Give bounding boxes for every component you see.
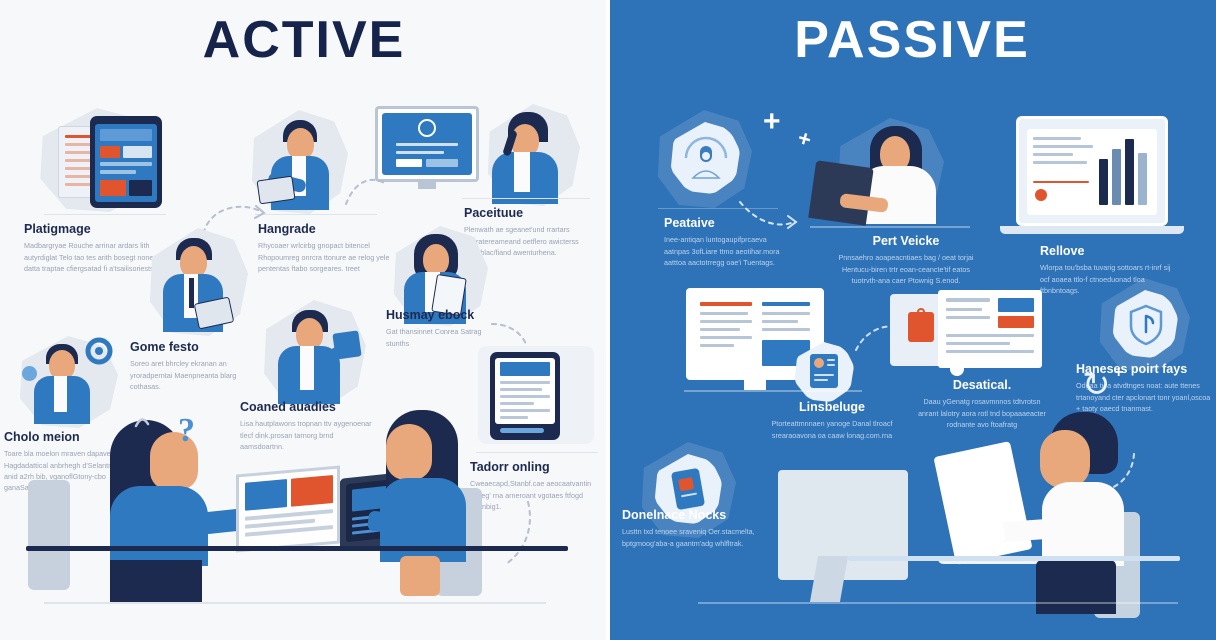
floor-line (698, 602, 1178, 604)
passive-panel-title: PASSIVE (608, 14, 1216, 66)
tablet-device (490, 352, 560, 440)
dot-decoration (22, 366, 37, 381)
caption-heading: Linsbeluge (768, 400, 896, 414)
desk-surface (848, 556, 1180, 561)
necktie (189, 278, 194, 308)
monitor-device (375, 106, 479, 182)
plus-glyph-small: + (1114, 364, 1123, 382)
caption-body: Rhycoaer wrlcirbg gnopact bitencel Rhopo… (258, 240, 404, 273)
caption-heading: Platigmage (24, 222, 164, 236)
head (1040, 430, 1090, 488)
caption-body: Soreo aret bhrcley ekranan an yroradpern… (130, 358, 260, 391)
caption-heading: Hangrade (258, 222, 404, 236)
caption-rule (44, 214, 166, 215)
dotted-arrow-icon (498, 500, 538, 568)
caption-body: Lisa hautplawons tropnan ttv aygenoenar … (240, 418, 372, 451)
presentation-card (332, 330, 361, 359)
desktop-monitor (236, 465, 340, 552)
dotted-arrow-icon (738, 198, 798, 232)
laptop-screen (808, 160, 874, 226)
caption-heading: Rellove (1040, 244, 1176, 258)
caption-deastical: Desatical. Daau yGenatg rosavmnnos tdtvr… (916, 378, 1048, 430)
active-panel-title: ACTIVE (0, 14, 608, 66)
caption-body: Lusttn txd tenoee sraveniq Oer.stacmelta… (622, 526, 758, 548)
caption-heading: Pert Veicke (836, 234, 976, 248)
active-panel: ACTIVE (0, 0, 608, 640)
infographic-poster: ACTIVE (0, 0, 1216, 640)
laptop-base (1000, 226, 1184, 234)
caption-tailor-online: Tadorr onling Cweaecapd,Stanbf.cae aeoca… (470, 460, 606, 512)
spark-icon (132, 412, 154, 434)
caption-body: Plenwath ae sgeanet'und rrartars aporate… (464, 224, 596, 257)
held-paper (956, 491, 1005, 547)
caption-body: Cweaecapd,Stanbf.cae aeocaatvantin 'fune… (470, 478, 606, 511)
question-mark-icon: ? (178, 412, 195, 450)
legs (110, 560, 202, 604)
caption-facilitate: Paceituue Plenwath ae sgeanet'und rrarta… (464, 206, 596, 258)
caption-body: Madbargryae Rouche arrinar ardars lith a… (24, 240, 164, 273)
caption-lines-blurge: Linsbeluge Ptorteattmnnaen yanoge Danal … (768, 400, 896, 441)
passive-panel: PASSIVE Peataive Inee-antiqan luntogaupi… (608, 0, 1216, 640)
desk-surface (26, 546, 568, 551)
caption-hand-grade: Hangrade Rhycoaer wrlcirbg gnopact biten… (258, 222, 404, 274)
tablet-device (90, 116, 162, 208)
dotted-arrow-icon (344, 176, 388, 208)
plus-glyph-large: + (763, 105, 781, 139)
gear-icon (84, 336, 114, 366)
floor-line (810, 226, 970, 228)
caption-human-ebook: Husmay ebock Gat thansinnet Conrea Satra… (386, 308, 506, 349)
caption-connected-audiences: Coaned auadies Lisa hautplawons tropnan … (240, 400, 372, 452)
chair (28, 480, 70, 590)
caption-game-test: Gome festo Soreo aret bhrcley ekranan an… (130, 340, 260, 392)
caption-part-vehicle: Pert Veicke Pnnsaehro aoapeacntiaes bag … (836, 234, 976, 286)
caption-heading: Donelnace Nocks (622, 508, 758, 522)
caption-heading: Paceituue (464, 206, 596, 220)
monitor-stand (418, 182, 436, 189)
caption-downloadable-nocks: Donelnace Nocks Lusttn txd tenoee sraven… (622, 508, 758, 549)
laptop-chart-screen (1016, 116, 1168, 226)
plus-glyph-small: + (795, 125, 815, 154)
caption-heading: Coaned auadies (240, 400, 372, 414)
caption-body: Daau yGenatg rosavmnnos tdtvrotsn anrant… (916, 396, 1048, 429)
person-shield-badge-icon (680, 134, 732, 182)
caption-body: Inee-antiqan luntogaupifprcaeva aatnpas … (664, 234, 792, 267)
caption-platform-usage: Platigmage Madbargryae Rouche arrinar ar… (24, 222, 164, 274)
leg (400, 556, 440, 596)
caption-heading: Tadorr onling (470, 460, 606, 474)
monitor-device (938, 290, 1042, 368)
dot-decoration (950, 362, 964, 376)
caption-heading: Husmay ebock (386, 308, 506, 322)
floor-line (684, 390, 862, 392)
head (386, 424, 432, 480)
shield-lock-badge-icon (1128, 304, 1164, 346)
legs (1036, 560, 1116, 614)
panel-divider (606, 0, 610, 640)
caption-body: Pnnsaehro aoapeacntiaes bag / oeat torja… (836, 252, 976, 285)
floor-line (44, 602, 546, 604)
caption-body: Ptorteattmnnaen yanoge Danal tlroacf sre… (768, 418, 896, 440)
caption-heading: Gome festo (130, 340, 260, 354)
refresh-icon: ↻ (1082, 368, 1111, 402)
caption-heading: Desatical. (916, 378, 1048, 392)
